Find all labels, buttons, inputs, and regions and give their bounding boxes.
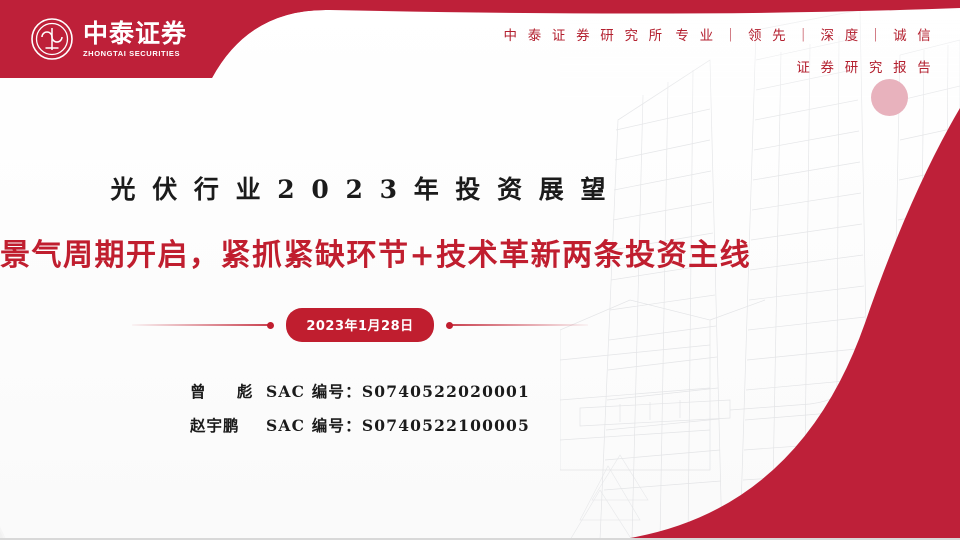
- author-sac-label: SAC 编号：: [266, 382, 362, 401]
- author-row: 赵宇鹏 SAC 编号：S0740522100005: [190, 414, 530, 436]
- author-row: 曾 彪 SAC 编号：S0740522020001: [190, 380, 530, 402]
- brand-name-en: ZHONGTAI SECURITIES: [83, 50, 187, 58]
- brand-name-cn: 中泰证券: [83, 21, 187, 46]
- date-row: 2023年1月28日: [0, 308, 720, 342]
- pink-circle-accent: [871, 79, 908, 116]
- page-subtitle: 景气周期开启，紧抓紧缺环节+技术革新两条投资主线: [0, 230, 720, 274]
- page-title: 光 伏 行 业 2 0 2 3 年 投 资 展 望: [0, 170, 720, 206]
- author-name: 曾 彪: [190, 380, 266, 402]
- author-sac-number: S0740522020001: [362, 382, 530, 401]
- cover-slide: 中泰证券 ZHONGTAI SECURITIES 中 泰 证 券 研 究 所专 …: [0, 0, 960, 540]
- cover-title-block: 光 伏 行 业 2 0 2 3 年 投 资 展 望 景气周期开启，紧抓紧缺环节+…: [0, 170, 720, 274]
- divider-dot-right: [446, 322, 453, 329]
- divider-line-right: [448, 324, 588, 326]
- date-badge: 2023年1月28日: [286, 308, 433, 342]
- author-sac: SAC 编号：S0740522020001: [266, 380, 530, 402]
- divider-dot-left: [267, 322, 274, 329]
- authors-block: 曾 彪 SAC 编号：S0740522020001 赵宇鹏 SAC 编号：S07…: [0, 380, 720, 448]
- author-sac-number: S0740522100005: [362, 416, 530, 435]
- brand-lockup: 中泰证券 ZHONGTAI SECURITIES: [30, 17, 187, 61]
- author-sac-label: SAC 编号：: [266, 416, 362, 435]
- header-institute: 中 泰 证 券 研 究 所: [504, 28, 666, 44]
- header-report-type: 证 券 研 究 报 告: [504, 56, 934, 76]
- header-right-text: 中 泰 证 券 研 究 所专 业 ｜ 领 先 ｜ 深 度 ｜ 诚 信 证 券 研…: [504, 24, 934, 76]
- header-institute-tagline: 中 泰 证 券 研 究 所专 业 ｜ 领 先 ｜ 深 度 ｜ 诚 信: [504, 24, 934, 44]
- divider-line-left: [132, 324, 272, 326]
- header-tagline: 专 业 ｜ 领 先 ｜ 深 度 ｜ 诚 信: [665, 28, 934, 44]
- author-name: 赵宇鹏: [190, 414, 266, 436]
- zhongtai-circle-logo-icon: [30, 17, 74, 61]
- brand-names: 中泰证券 ZHONGTAI SECURITIES: [83, 21, 187, 58]
- author-sac: SAC 编号：S0740522100005: [266, 414, 530, 436]
